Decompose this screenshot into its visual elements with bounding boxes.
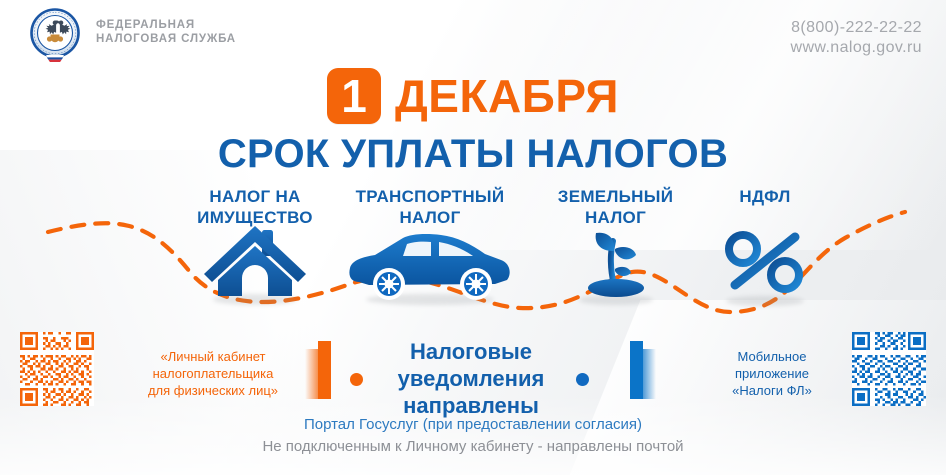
day-number-badge: 1 [327, 68, 381, 124]
tax-item-ndfl: НДФЛ [690, 186, 840, 307]
federal-tax-service-emblem-icon [24, 8, 86, 64]
tax-item-transport: ТРАНСПОРТНЫЙ НАЛОГ [330, 186, 530, 306]
infographic-poster: ФЕДЕРАЛЬНАЯ НАЛОГОВАЯ СЛУЖБА 8(800)-222-… [0, 0, 946, 475]
sprout-icon [528, 234, 703, 306]
tax-item-property: НАЛОГ НА ИМУЩЕСТВО [160, 186, 350, 306]
house-icon [160, 234, 350, 306]
tax-types-row: НАЛОГ НА ИМУЩЕСТВО [0, 186, 946, 326]
page-title: СРОК УПЛАТЫ НАЛОГОВ [0, 132, 946, 177]
tax-label-property: НАЛОГ НА ИМУЩЕСТВО [160, 186, 350, 228]
organization-name: ФЕДЕРАЛЬНАЯ НАЛОГОВАЯ СЛУЖБА [96, 18, 236, 46]
bullet-dot-blue [576, 373, 589, 386]
qr-code-personal-account[interactable] [20, 332, 94, 406]
tax-item-land: ЗЕМЕЛЬНЫЙ НАЛОГ [528, 186, 703, 306]
notification-message: Налоговые уведомления направлены [356, 338, 586, 419]
personal-account-caption: «Личный кабинет налогоплательщика для фи… [118, 348, 308, 399]
orange-ribbon-divider [305, 341, 331, 399]
qr-code-mobile-app[interactable] [852, 332, 926, 406]
blue-ribbon-divider [630, 341, 656, 399]
footer-line-gosuslugi: Портал Госуслуг (при предоставлении согл… [0, 416, 946, 433]
mobile-app-caption: Мобильное приложение «Налоги ФЛ» [682, 348, 862, 399]
org-line-2: НАЛОГОВАЯ СЛУЖБА [96, 32, 236, 46]
percent-icon [690, 235, 840, 307]
phone-number[interactable]: 8(800)-222-22-22 [790, 18, 922, 38]
org-line-1: ФЕДЕРАЛЬНАЯ [96, 18, 236, 32]
footer-line-mail: Не подключенным к Личному кабинету - нап… [0, 438, 946, 455]
tax-label-transport: ТРАНСПОРТНЫЙ НАЛОГ [330, 186, 530, 228]
car-icon [330, 234, 530, 306]
date-headline: 1 ДЕКАБРЯ [0, 68, 946, 124]
tax-label-land: ЗЕМЕЛЬНЫЙ НАЛОГ [528, 186, 703, 228]
tax-label-ndfl: НДФЛ [690, 186, 840, 207]
contact-info: 8(800)-222-22-22 www.nalog.gov.ru [790, 18, 922, 58]
website-url[interactable]: www.nalog.gov.ru [790, 38, 922, 58]
month-name: ДЕКАБРЯ [395, 69, 619, 123]
